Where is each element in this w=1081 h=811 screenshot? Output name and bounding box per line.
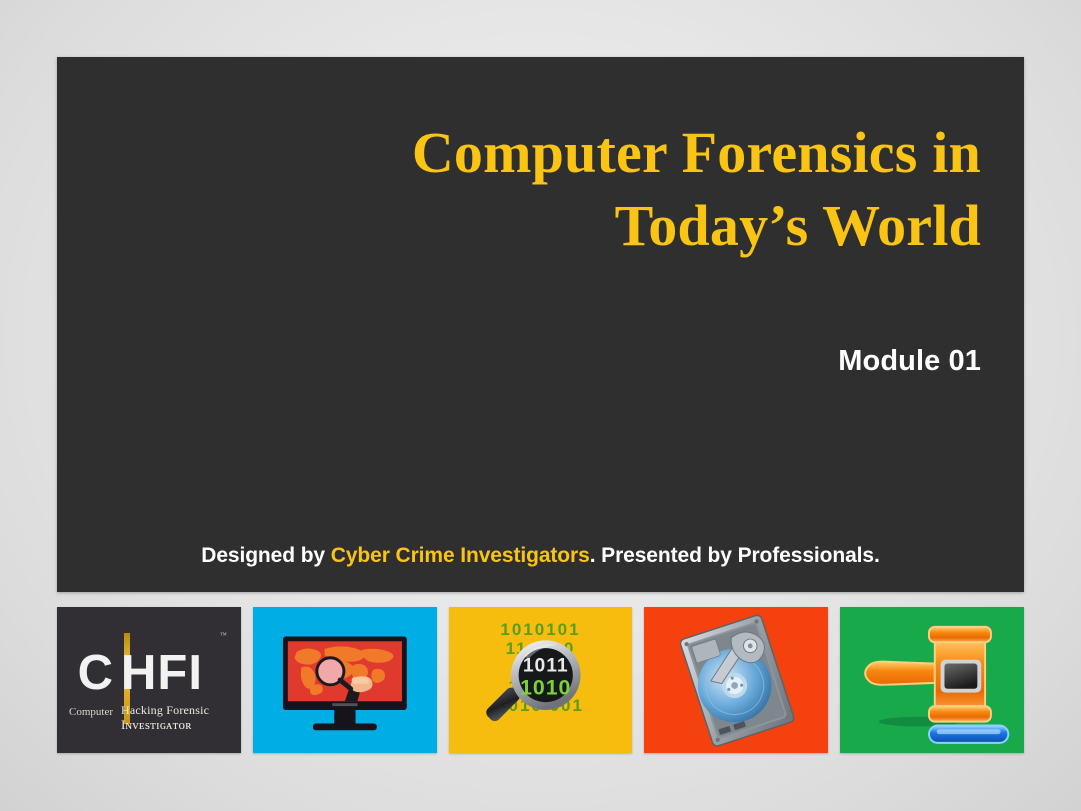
chfi-letter-c: C (71, 649, 113, 698)
monitor-world-map-magnifier-icon (253, 607, 437, 753)
module-label: Module 01 (838, 345, 981, 378)
tile-chfi-logo: ™ C HFI Computer Hacking Forensic Iɴᴠᴇsᴛ… (57, 607, 241, 753)
footer-suffix: . Presented by Professionals. (590, 544, 880, 567)
chfi-word-computer: Computer (65, 706, 113, 718)
gavel-icon (840, 607, 1024, 753)
chfi-line-investigator: Iɴᴠᴇsᴛɪɢᴀᴛᴏʀ (121, 717, 192, 733)
tile-binary-magnifier: 1010101 11 0 10 0 01 10 010 1010 001 (449, 607, 633, 753)
tile-strip: ™ C HFI Computer Hacking Forensic Iɴᴠᴇsᴛ… (57, 607, 1024, 753)
hard-disk-drive-icon (644, 607, 828, 753)
chfi-logo: ™ C HFI Computer Hacking Forensic Iɴᴠᴇsᴛ… (57, 607, 241, 753)
chfi-letters-hfi: HFI (121, 649, 203, 698)
title-block: Computer Forensics in Today’s World (241, 117, 981, 262)
footer-credit: Designed by Cyber Crime Investigators. P… (57, 544, 1024, 568)
footer-prefix: Designed by (201, 544, 331, 567)
tile-gavel (840, 607, 1024, 753)
svg-text:1010: 1010 (520, 676, 571, 700)
page-title: Computer Forensics in Today’s World (241, 117, 981, 262)
trademark-symbol: ™ (220, 631, 227, 639)
slide-panel: Computer Forensics in Today’s World Modu… (57, 57, 1024, 592)
magnifier-binary-icon: 1011 1010 (449, 607, 633, 753)
tile-hard-disk (644, 607, 828, 753)
tile-computer-monitor (253, 607, 437, 753)
footer-accent-text: Cyber Crime Investigators (331, 544, 590, 567)
chfi-line-hacking-forensic: Hacking Forensic (121, 703, 209, 718)
